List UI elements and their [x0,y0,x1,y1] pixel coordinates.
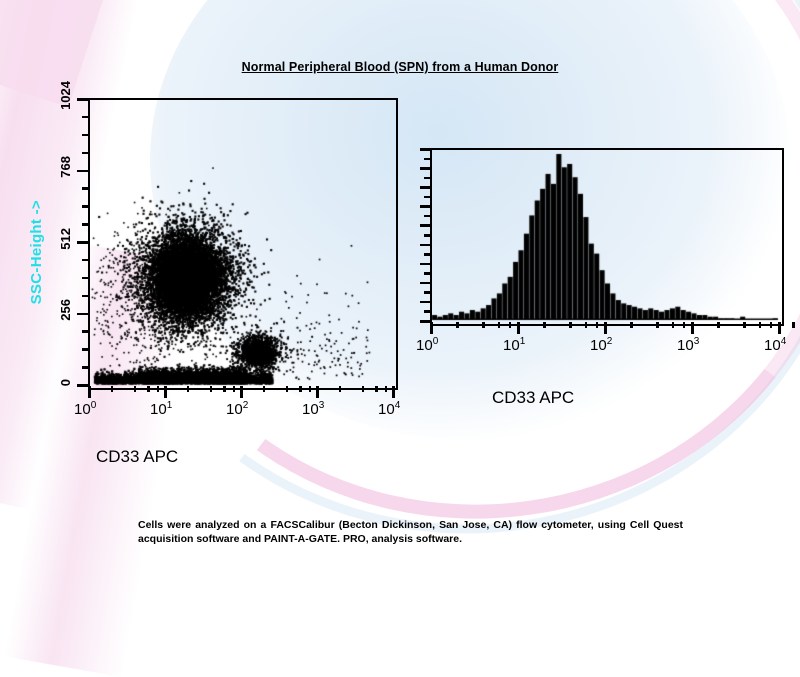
histogram-x-tick-label: 104 [764,336,786,354]
histogram-y-major-tick [420,205,430,208]
histogram-x-minor-tick [672,322,675,328]
histogram-y-minor-tick [424,253,430,256]
histogram-x-minor-tick [759,322,762,328]
histogram-x-minor-tick [770,322,773,328]
histogram-y-major-tick [420,320,430,323]
histogram-y-major-tick [420,148,430,151]
histogram-y-minor-tick [424,215,430,218]
histogram-y-minor-tick [424,177,430,180]
histogram-y-major-tick [420,167,430,170]
histogram-y-major-tick [420,301,430,304]
histogram-y-minor-tick [424,291,430,294]
histogram-y-major-tick [420,224,430,227]
histogram-x-minor-tick [630,322,633,328]
histogram-x-major-tick [778,322,781,334]
flow-cytometry-figure: Normal Peripheral Blood (SPN) from a Hum… [0,0,800,600]
histogram-y-minor-tick [424,234,430,237]
histogram-x-major-tick [604,322,607,334]
histogram-x-tick-label: 102 [590,336,612,354]
histogram-x-minor-tick [456,322,459,328]
histogram-plot-frame [430,148,784,326]
histogram-x-minor-tick [656,322,659,328]
histogram-y-major-tick [420,263,430,266]
histogram-x-overflow-tick [792,322,795,328]
histogram-x-tick-label: 100 [416,336,438,354]
histogram-y-minor-tick [424,310,430,313]
histogram-x-tick-label: 103 [677,336,699,354]
histogram-x-minor-tick [543,322,546,328]
histogram-x-minor-tick [596,322,599,328]
histogram-x-minor-tick [683,322,686,328]
histogram-x-tick-label: 101 [503,336,525,354]
histogram-x-major-tick [517,322,520,334]
figure-caption: Cells were analyzed on a FACSCalibur (Be… [138,518,683,546]
histogram-x-minor-tick [569,322,572,328]
histogram-y-minor-tick [424,196,430,199]
histogram-y-major-tick [420,186,430,189]
histogram-x-minor-tick [743,322,746,328]
histogram-y-minor-tick [424,158,430,161]
histogram-y-minor-tick [424,272,430,275]
histogram-x-minor-tick [585,322,588,328]
histogram-x-major-tick [430,322,433,334]
histogram-x-minor-tick [498,322,501,328]
histogram-x-minor-tick [717,322,720,328]
histogram-y-major-tick [420,282,430,285]
histogram-y-major-tick [420,244,430,247]
histogram-x-minor-tick [509,322,512,328]
histogram-x-major-tick [691,322,694,334]
histogram-x-axis-label: CD33 APC [492,388,574,408]
histogram-x-minor-tick [482,322,485,328]
